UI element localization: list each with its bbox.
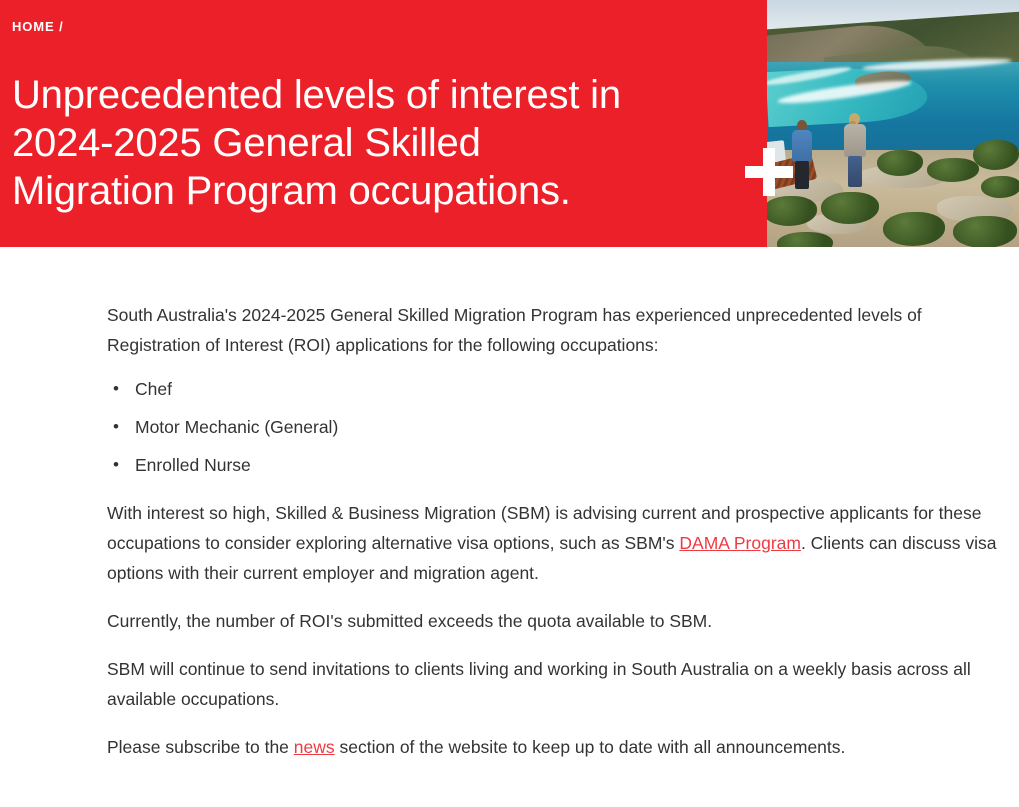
breadcrumb[interactable]: HOME / xyxy=(12,20,64,33)
photo-person-legs xyxy=(795,161,809,189)
list-item: Chef xyxy=(135,374,1013,404)
list-item: Enrolled Nurse xyxy=(135,450,1013,480)
hero-banner: HOME / Unprecedented levels of interest … xyxy=(0,0,1019,247)
quota-paragraph: Currently, the number of ROI's submitted… xyxy=(107,606,1013,636)
article-body: South Australia's 2024-2025 General Skil… xyxy=(107,300,1013,774)
list-item: Motor Mechanic (General) xyxy=(135,412,1013,442)
photo-shrub xyxy=(953,216,1017,247)
photo-person-torso xyxy=(792,130,812,162)
invitations-paragraph: SBM will continue to send invitations to… xyxy=(107,654,1013,714)
photo-person-torso xyxy=(844,124,866,157)
intro-paragraph: South Australia's 2024-2025 General Skil… xyxy=(107,300,1013,360)
occupations-list: Chef Motor Mechanic (General) Enrolled N… xyxy=(107,374,1013,480)
page-title-line-2: 2024-2025 General Skilled xyxy=(12,119,752,167)
photo-person-legs xyxy=(848,156,862,187)
news-link[interactable]: news xyxy=(294,737,335,757)
photo-person-left xyxy=(791,120,813,188)
photo-shrub xyxy=(777,232,833,247)
page-title-line-1: Unprecedented levels of interest in xyxy=(12,71,752,119)
hero-photo xyxy=(767,0,1019,247)
subscribe-paragraph: Please subscribe to the news section of … xyxy=(107,732,1013,762)
photo-person-right xyxy=(843,113,867,188)
advice-paragraph: With interest so high, Skilled & Busines… xyxy=(107,498,1013,588)
dama-program-link[interactable]: DAMA Program xyxy=(679,533,801,553)
page-title: Unprecedented levels of interest in 2024… xyxy=(12,71,752,215)
subscribe-text-before: Please subscribe to the xyxy=(107,737,294,757)
plus-icon xyxy=(745,148,793,196)
photo-shrub xyxy=(981,176,1019,198)
page-title-line-3: Migration Program occupations. xyxy=(12,167,752,215)
subscribe-text-after: section of the website to keep up to dat… xyxy=(335,737,846,757)
